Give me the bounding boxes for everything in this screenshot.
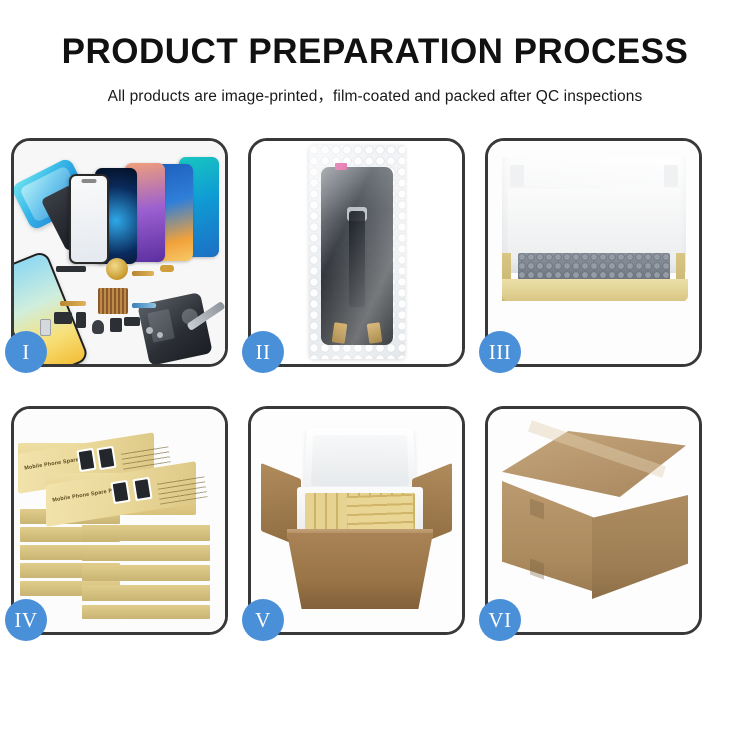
spare-parts-box: Mobile Phone Spare Parts (46, 473, 196, 515)
gold-connector-part-icon (160, 265, 174, 272)
page-header: PRODUCT PREPARATION PROCESS All products… (0, 0, 750, 106)
step-panel-3[interactable]: III (485, 138, 702, 367)
camera-module-icon (92, 320, 104, 334)
carton-body (287, 533, 433, 609)
speaker-grille-icon (98, 288, 128, 314)
antenna-cable-icon (132, 303, 156, 308)
step-image-5 (251, 409, 462, 632)
step-panel-6[interactable]: VI (485, 406, 702, 635)
step-image-6 (488, 409, 699, 632)
step-image-4: Mobile Phone Spare Parts Mobile Phone Sp… (14, 409, 225, 632)
step-badge-3: III (479, 331, 521, 373)
earpiece-part-icon (56, 266, 86, 272)
small-part-icon (54, 312, 72, 324)
step-badge-1: I (5, 331, 47, 373)
retail-boxes-stack (346, 494, 413, 532)
sim-tray-icon (40, 319, 51, 336)
step-panel-5[interactable]: V (248, 406, 465, 635)
phone-lineup (26, 155, 221, 263)
battery-connector-icon (110, 318, 122, 332)
small-part-icon (124, 317, 140, 326)
process-steps-grid: I II (11, 138, 739, 635)
step-image-2 (251, 141, 462, 364)
screw-icon (157, 332, 163, 338)
flex-cable-part-icon (132, 271, 154, 276)
screw-icon (146, 327, 153, 334)
foam-box-lid (303, 428, 416, 493)
step-badge-4: IV (5, 599, 47, 641)
step-image-1 (14, 141, 225, 364)
foam-sheet (508, 189, 680, 259)
step-badge-6: VI (479, 599, 521, 641)
step-panel-4[interactable]: Mobile Phone Spare Parts Mobile Phone Sp… (11, 406, 228, 635)
step-panel-1[interactable]: I (11, 138, 228, 367)
page-subtitle: All products are image-printed，film-coat… (0, 84, 750, 106)
kraft-box-front (502, 279, 688, 301)
vibration-motor-icon (106, 258, 128, 280)
step-panel-2[interactable]: II (248, 138, 465, 367)
small-part-icon (76, 312, 86, 328)
flex-cable-part-icon (60, 301, 86, 306)
step-badge-2: II (242, 331, 284, 373)
step-badge-5: V (242, 599, 284, 641)
box-stack: Mobile Phone Spare Parts Mobile Phone Sp… (16, 421, 225, 621)
step-image-3 (488, 141, 699, 364)
page-title: PRODUCT PREPARATION PROCESS (0, 34, 750, 71)
bubble-wrap-bag (309, 145, 405, 359)
